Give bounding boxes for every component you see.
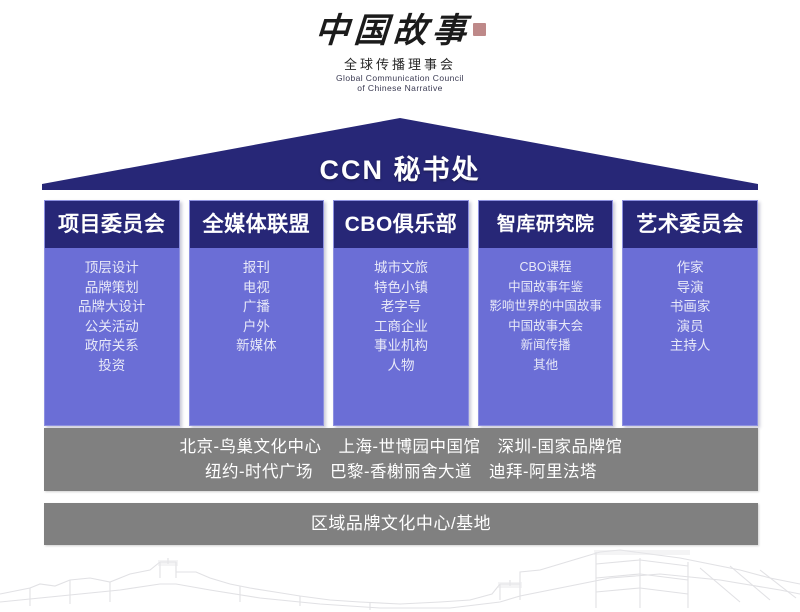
logo-subtitle-en-line1: Global Communication Council [0,73,800,84]
list-item: 中国故事年鉴 [479,278,613,298]
venue-band-line-2: 纽约-时代广场 巴黎-香榭丽舍大道 迪拜-阿里法塔 [44,460,758,485]
list-item: 老字号 [334,297,468,317]
list-item: 政府关系 [45,336,179,356]
list-item: 报刊 [190,258,324,278]
pillar-art-committee[interactable]: 艺术委员会 作家 导演 书画家 演员 主持人 [622,200,758,426]
list-item: 新闻传播 [479,336,613,356]
region-band: 区域品牌文化中心/基地 [44,503,758,545]
list-item: 中国故事大会 [479,317,613,337]
list-item: 电视 [190,278,324,298]
list-item: 特色小镇 [334,278,468,298]
list-item: 城市文旅 [334,258,468,278]
venue-band: 北京-鸟巢文化中心 上海-世博园中国馆 深圳-国家品牌馆 纽约-时代广场 巴黎-… [44,428,758,491]
great-wall-icon [0,544,800,612]
pillar-title: 智库研究院 [479,201,613,248]
list-item: 品牌策划 [45,278,179,298]
pillar-cbo-club[interactable]: CBO俱乐部 城市文旅 特色小镇 老字号 工商企业 事业机构 人物 [333,200,469,426]
pillar-item-list: 顶层设计 品牌策划 品牌大设计 公关活动 政府关系 投资 [45,248,179,425]
pillar-all-media-alliance[interactable]: 全媒体联盟 报刊 电视 广播 户外 新媒体 [189,200,325,426]
venue-band-line-1: 北京-鸟巢文化中心 上海-世博园中国馆 深圳-国家品牌馆 [44,435,758,460]
logo-subtitle-en-line2: of Chinese Narrative [0,83,800,94]
list-item: 事业机构 [334,336,468,356]
pillar-item-list: 作家 导演 书画家 演员 主持人 [623,248,757,425]
red-seal-stamp-icon [473,23,486,36]
list-item: 投资 [45,356,179,376]
pillar-item-list: 报刊 电视 广播 户外 新媒体 [190,248,324,425]
list-item: 作家 [623,258,757,278]
list-item: 人物 [334,356,468,376]
pillar-title: 项目委员会 [45,201,179,248]
list-item: 公关活动 [45,317,179,337]
list-item: 主持人 [623,336,757,356]
logo-subtitle-cn: 全球传播理事会 [0,54,800,73]
region-band-label: 区域品牌文化中心/基地 [311,514,491,533]
roof-label: CCN 秘书处 [42,148,758,187]
list-item: 导演 [623,278,757,298]
list-item: 其他 [479,356,613,376]
pillar-project-committee[interactable]: 项目委员会 顶层设计 品牌策划 品牌大设计 公关活动 政府关系 投资 [44,200,180,426]
list-item: 顶层设计 [45,258,179,278]
list-item: 工商企业 [334,317,468,337]
list-item: 演员 [623,317,757,337]
list-item: 户外 [190,317,324,337]
pillar-item-list: 城市文旅 特色小镇 老字号 工商企业 事业机构 人物 [334,248,468,425]
list-item: CBO课程 [479,258,613,278]
pillars-row: 项目委员会 顶层设计 品牌策划 品牌大设计 公关活动 政府关系 投资 全媒体联盟… [44,200,758,426]
pillar-title: CBO俱乐部 [334,201,468,248]
logo-block: 中国故事 全球传播理事会 Global Communication Counci… [0,14,800,94]
list-item: 品牌大设计 [45,297,179,317]
logo-calligraphy-row: 中国故事 [0,14,800,50]
list-item: 影响世界的中国故事 [479,297,613,317]
logo-calligraphy-text: 中国故事 [313,14,471,50]
pillar-title: 艺术委员会 [623,201,757,248]
pillar-item-list: CBO课程 中国故事年鉴 影响世界的中国故事 中国故事大会 新闻传播 其他 [479,248,613,425]
pillar-title: 全媒体联盟 [190,201,324,248]
great-wall-illustration [0,544,800,612]
pillar-think-tank-institute[interactable]: 智库研究院 CBO课程 中国故事年鉴 影响世界的中国故事 中国故事大会 新闻传播… [478,200,614,426]
list-item: 新媒体 [190,336,324,356]
list-item: 书画家 [623,297,757,317]
list-item: 广播 [190,297,324,317]
roof-triangle: CCN 秘书处 [42,118,758,190]
